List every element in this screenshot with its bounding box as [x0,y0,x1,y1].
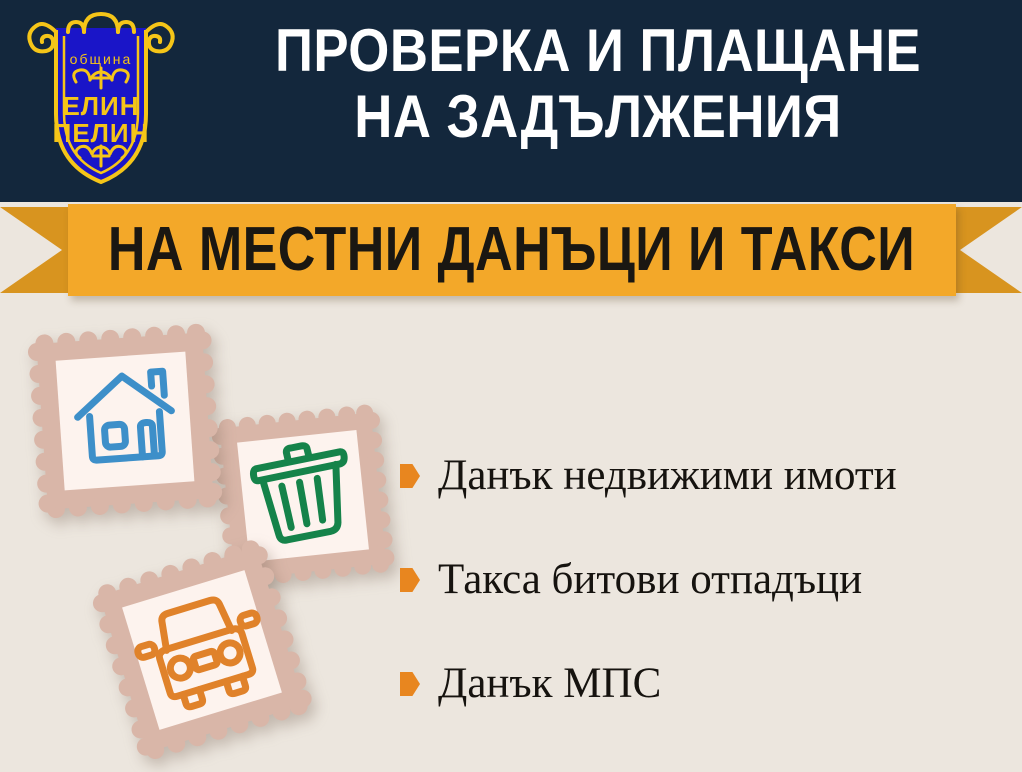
poster-root: община ЕЛИН ПЕЛИН [0,0,1022,772]
list-item: Такса битови отпадъци [400,528,1010,632]
list-item-label: Такса битови отпадъци [438,556,862,604]
list-item: Данък МПС [400,632,1010,736]
list-item-label: Данък МПС [438,660,661,708]
crest-line-pelin: ПЕЛИН [53,118,150,148]
header-bar: община ЕЛИН ПЕЛИН [0,0,1022,202]
stamp-car [88,536,316,764]
municipality-crest-logo: община ЕЛИН ПЕЛИН [22,6,180,190]
poster-title-line-1: ПРОВЕРКА И ПЛАЩАНЕ [239,18,957,84]
ribbon-label: НА МЕСТНИ ДАНЪЦИ И ТАКСИ [108,219,915,281]
crest-line-elin: ЕЛИН [62,91,139,121]
poster-title-line-2: НА ЗАДЪЛЖЕНИЯ [239,84,957,150]
subtitle-ribbon: НА МЕСТНИ ДАНЪЦИ И ТАКСИ [0,196,1022,306]
crest-line-obshtina: община [70,51,133,67]
bullet-arrow-icon [400,464,420,488]
stamp-house [16,312,234,530]
list-item-label: Данък недвижими имоти [438,452,897,500]
bullet-arrow-icon [400,568,420,592]
bullet-arrow-icon [400,672,420,696]
ribbon-band: НА МЕСТНИ ДАНЪЦИ И ТАКСИ [68,204,956,296]
tax-type-list: Данък недвижими имоти Такса битови отпад… [400,424,1010,736]
list-item: Данък недвижими имоти [400,424,1010,528]
poster-title: ПРОВЕРКА И ПЛАЩАНЕ НА ЗАДЪЛЖЕНИЯ [190,18,1006,150]
